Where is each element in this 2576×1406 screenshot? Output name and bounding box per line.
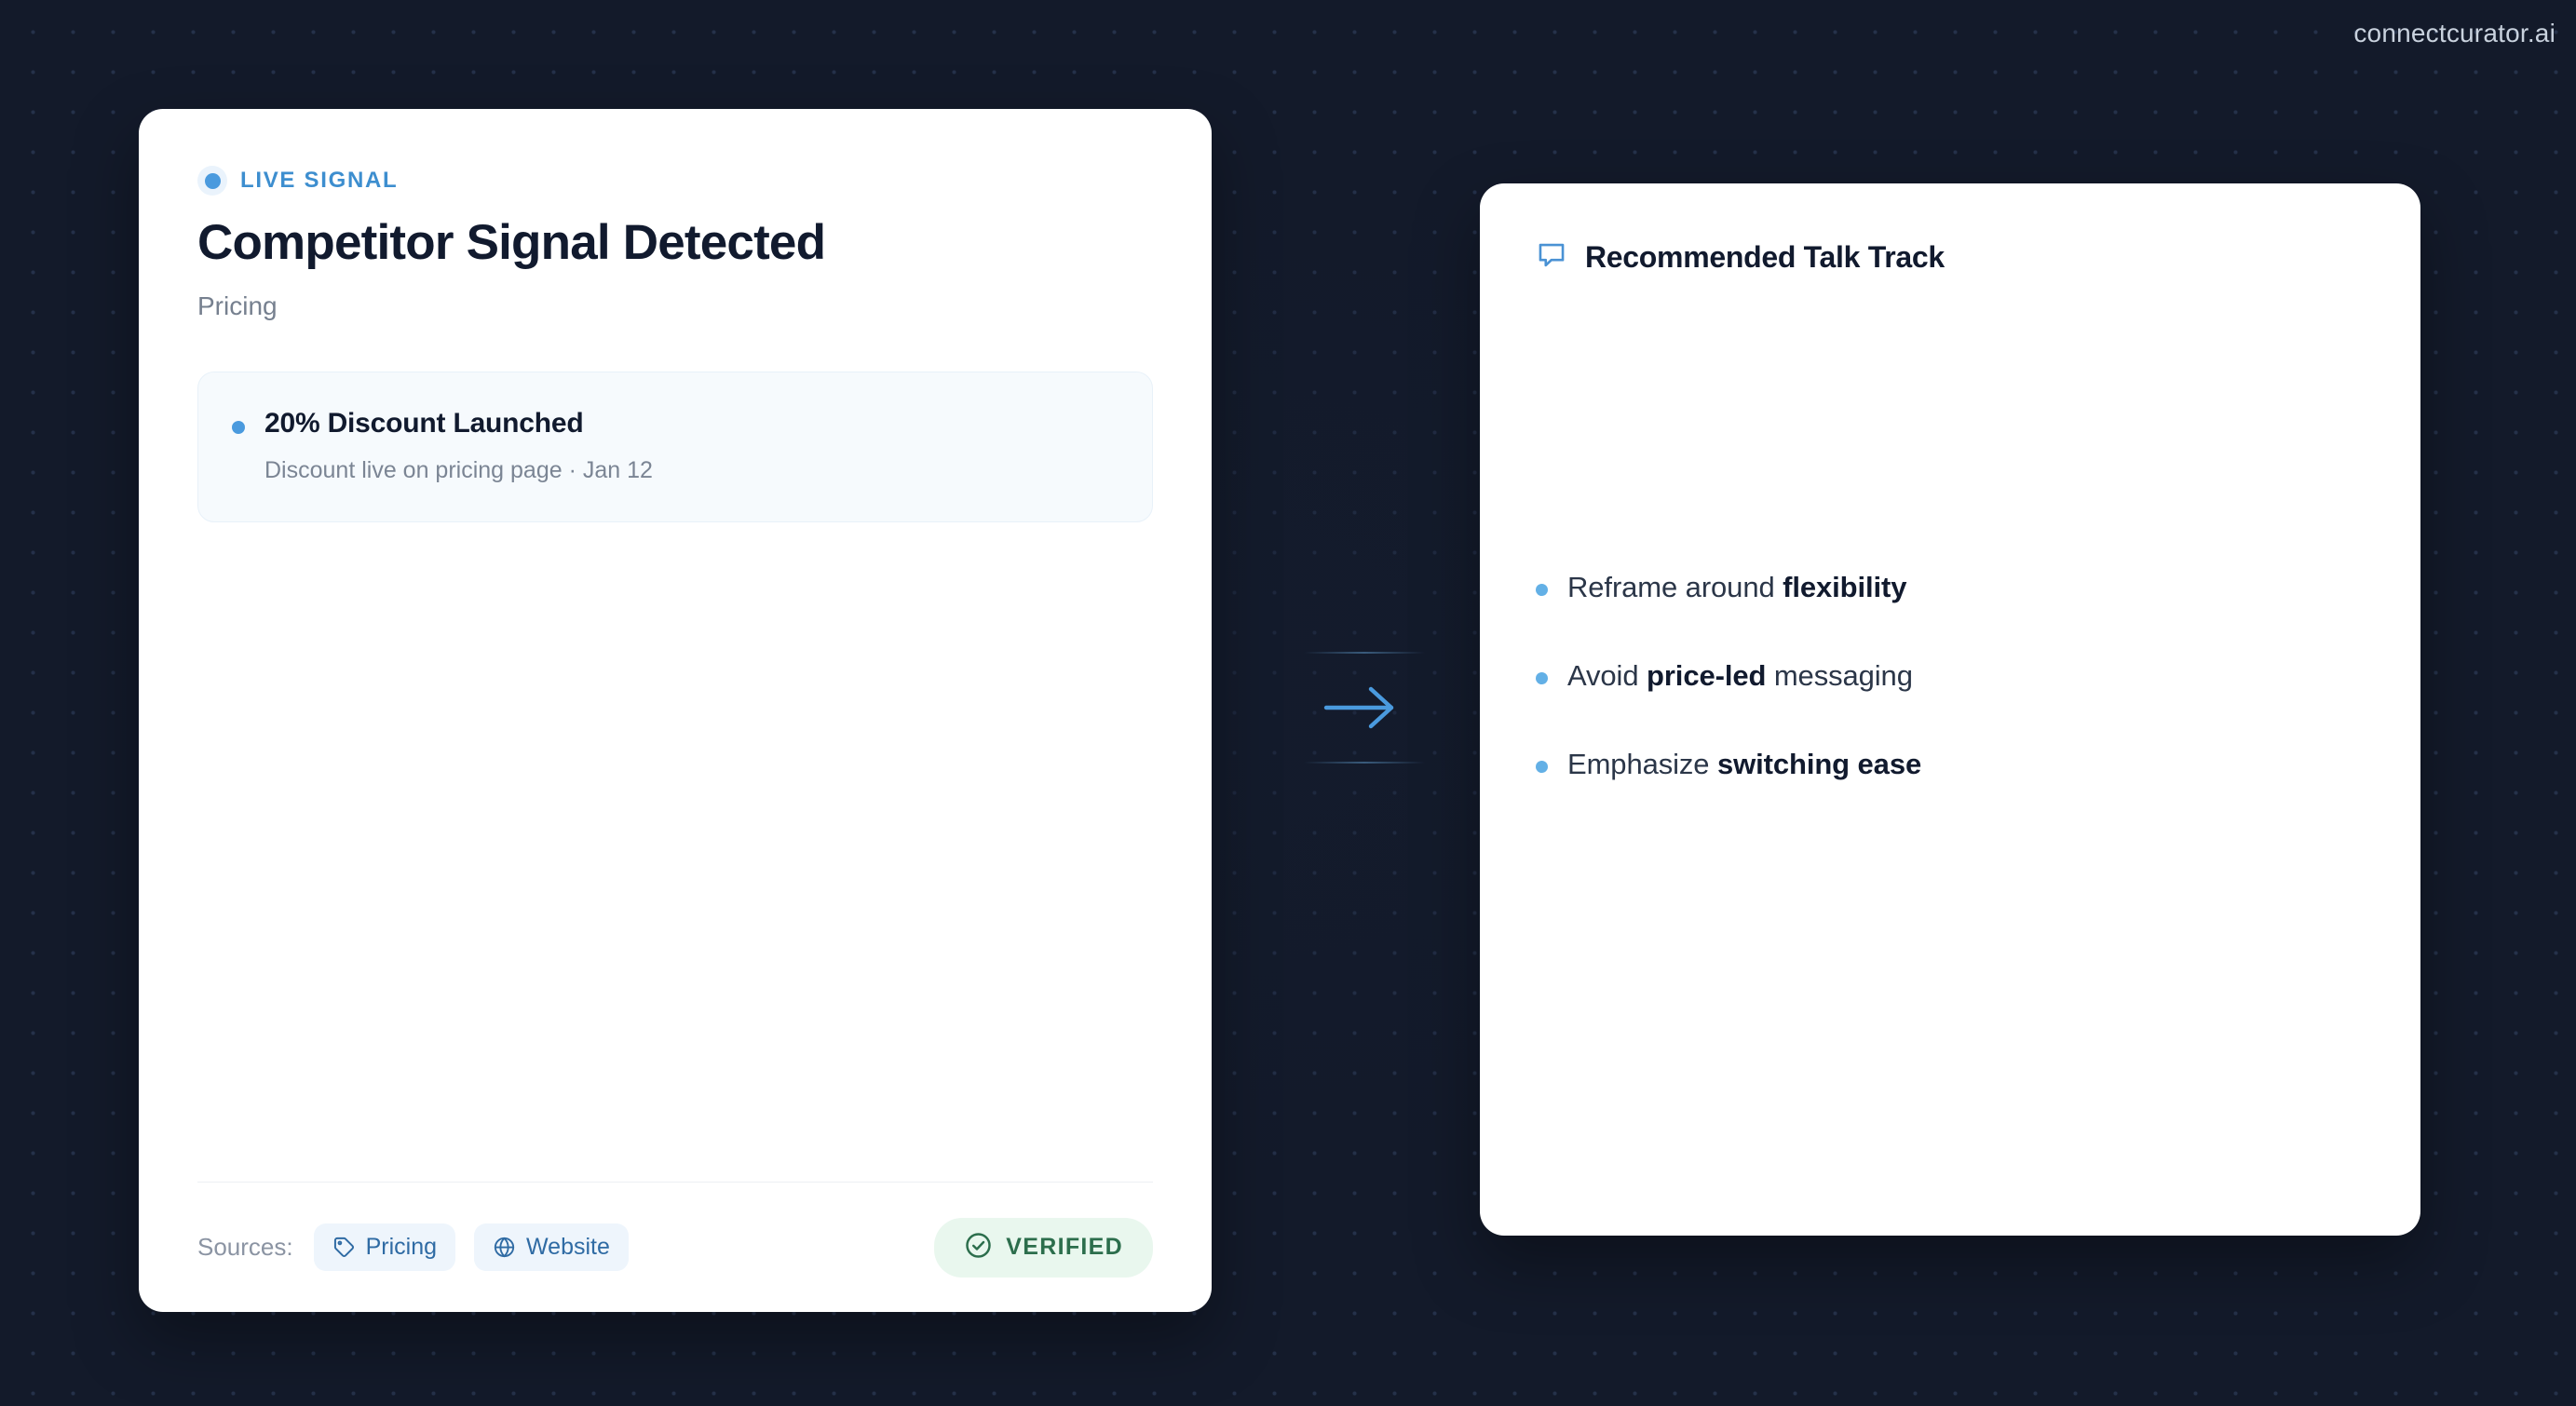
- talk-track-item-text: Emphasize switching ease: [1567, 747, 1921, 783]
- talk-item-emphasis: flexibility: [1783, 571, 1906, 603]
- list-item[interactable]: Emphasize switching ease: [1536, 747, 2365, 783]
- talk-track-header: Recommended Talk Track: [1536, 239, 2365, 276]
- talk-item-prefix: Reframe around: [1567, 571, 1783, 603]
- list-item[interactable]: Avoid price-led messaging: [1536, 658, 2365, 695]
- verified-label: VERIFIED: [1006, 1234, 1123, 1261]
- connector-line-top: [1304, 652, 1425, 654]
- talk-track-item-text: Reframe around flexibility: [1567, 570, 1906, 606]
- globe-icon: [493, 1236, 516, 1259]
- source-chip-pricing[interactable]: Pricing: [314, 1223, 455, 1271]
- signal-item-headline: 20% Discount Launched: [264, 408, 653, 439]
- talk-item-suffix: messaging: [1766, 659, 1913, 692]
- talk-item-prefix: Emphasize: [1567, 748, 1717, 780]
- talk-track-item-text: Avoid price-led messaging: [1567, 658, 1913, 695]
- live-signal-badge: LIVE SIGNAL: [197, 167, 1153, 195]
- competitor-signal-card: LIVE SIGNAL Competitor Signal Detected P…: [139, 109, 1212, 1312]
- recommended-talk-track-card: Recommended Talk Track Reframe around fl…: [1480, 183, 2420, 1236]
- talk-item-emphasis: switching ease: [1717, 748, 1921, 780]
- bullet-dot-icon: [1536, 584, 1548, 596]
- bullet-dot-icon: [232, 421, 245, 434]
- signal-card-footer: Sources: Pricing Website: [197, 1183, 1153, 1312]
- talk-item-prefix: Avoid: [1567, 659, 1647, 692]
- card-spacer: [197, 522, 1153, 1182]
- source-chip-website[interactable]: Website: [474, 1223, 629, 1271]
- message-bubble-icon: [1536, 239, 1567, 276]
- page-title: Competitor Signal Detected: [197, 216, 1153, 269]
- signal-category: Pricing: [197, 291, 1153, 321]
- connector-line-bottom: [1304, 762, 1425, 764]
- list-item[interactable]: 20% Discount Launched Discount live on p…: [197, 372, 1153, 522]
- arrow-right-icon: [1321, 683, 1401, 737]
- talk-track-list: Reframe around flexibility Avoid price-l…: [1536, 570, 2365, 782]
- talk-item-emphasis: price-led: [1647, 659, 1766, 692]
- bullet-dot-icon: [1536, 672, 1548, 684]
- signal-item-list: 20% Discount Launched Discount live on p…: [197, 372, 1153, 522]
- talk-track-title: Recommended Talk Track: [1585, 240, 1945, 275]
- check-circle-icon: [964, 1231, 993, 1264]
- list-item[interactable]: Reframe around flexibility: [1536, 570, 2365, 606]
- status-badge: VERIFIED: [934, 1218, 1153, 1278]
- source-chip-label: Website: [526, 1234, 610, 1261]
- source-chip-label: Pricing: [366, 1234, 437, 1261]
- bullet-dot-icon: [1536, 761, 1548, 773]
- signal-item-meta: Discount live on pricing page · Jan 12: [264, 457, 653, 484]
- sources-label: Sources:: [197, 1233, 293, 1262]
- live-dot-icon: [197, 166, 227, 196]
- site-watermark: connectcurator.ai: [2353, 19, 2556, 48]
- live-signal-label: LIVE SIGNAL: [240, 168, 398, 194]
- flow-connector: [1295, 652, 1471, 764]
- tag-icon: [332, 1236, 356, 1259]
